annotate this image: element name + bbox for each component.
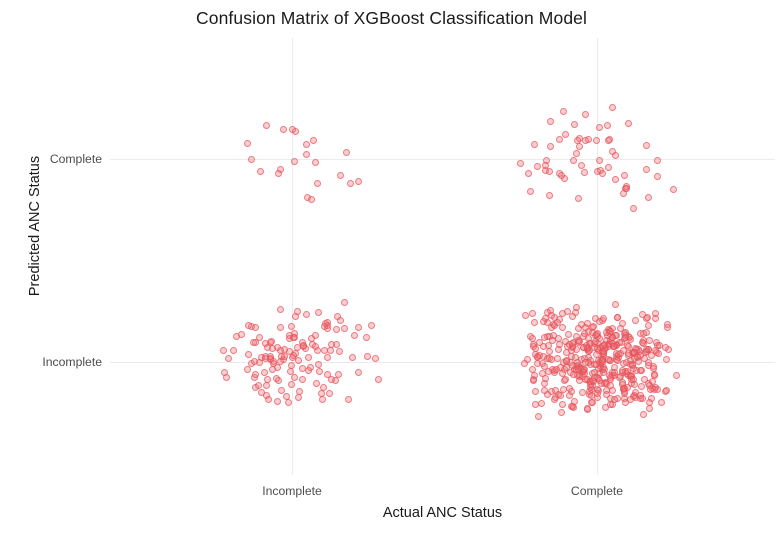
scatter-point: [658, 399, 665, 406]
scatter-point: [593, 351, 600, 358]
scatter-point: [308, 196, 315, 203]
scatter-point: [223, 374, 230, 381]
scatter-point: [296, 388, 303, 395]
scatter-point: [662, 344, 669, 351]
x-tick-label-complete: Complete: [571, 484, 623, 498]
scatter-point: [558, 172, 565, 179]
scatter-point: [646, 337, 653, 344]
scatter-point: [355, 324, 362, 331]
scatter-point: [548, 312, 555, 319]
scatter-point: [575, 337, 582, 344]
x-tick-label-incomplete: Incomplete: [262, 484, 322, 498]
scatter-point: [277, 347, 284, 354]
scatter-point: [351, 332, 358, 339]
scatter-point: [652, 347, 659, 354]
scatter-point: [313, 380, 320, 387]
scatter-point: [341, 299, 348, 306]
scatter-point: [299, 376, 306, 383]
scatter-point: [252, 371, 259, 378]
scatter-point: [622, 334, 629, 341]
scatter-point: [574, 372, 581, 379]
scatter-point: [625, 120, 632, 127]
scatter-point: [562, 376, 569, 383]
scatter-point: [619, 367, 626, 374]
scatter-point: [287, 368, 294, 375]
scatter-point: [321, 323, 328, 330]
scatter-point: [332, 377, 339, 384]
scatter-point: [336, 348, 343, 355]
scatter-point: [609, 104, 616, 111]
scatter-point: [571, 398, 578, 405]
scatter-point: [265, 396, 272, 403]
scatter-point: [596, 124, 603, 131]
scatter-point: [521, 360, 528, 367]
scatter-point: [252, 324, 259, 331]
scatter-point: [347, 180, 354, 187]
scatter-point: [643, 166, 650, 173]
scatter-point: [250, 339, 257, 346]
scatter-point: [263, 122, 270, 129]
scatter-point: [238, 331, 245, 338]
scatter-point: [569, 340, 576, 347]
scatter-point: [620, 360, 627, 367]
scatter-point: [602, 404, 609, 411]
scatter-point: [548, 356, 555, 363]
scatter-point: [308, 335, 315, 342]
scatter-point: [563, 364, 570, 371]
scatter-point: [612, 176, 619, 183]
scatter-point: [573, 304, 580, 311]
scatter-point: [582, 137, 589, 144]
scatter-point: [280, 126, 287, 133]
scatter-point: [310, 137, 317, 144]
scatter-point: [612, 301, 619, 308]
scatter-point: [303, 151, 310, 158]
scatter-point: [337, 172, 344, 179]
scatter-point: [673, 372, 680, 379]
scatter-point: [627, 396, 634, 403]
scatter-point: [277, 324, 284, 331]
scatter-point: [268, 338, 275, 345]
scatter-point: [261, 369, 268, 376]
scatter-point: [527, 188, 534, 195]
scatter-point: [654, 157, 661, 164]
scatter-point: [563, 349, 570, 356]
scatter-point: [603, 380, 610, 387]
scatter-point: [522, 312, 529, 319]
scatter-point: [303, 141, 310, 148]
y-tick-label-complete: Complete: [50, 152, 102, 166]
scatter-point: [547, 143, 554, 150]
scatter-point: [605, 164, 612, 171]
scatter-point: [670, 186, 677, 193]
scatter-point: [292, 128, 299, 135]
chart-container: Confusion Matrix of XGBoost Classificati…: [0, 0, 783, 540]
scatter-point: [288, 323, 295, 330]
scatter-point: [621, 172, 628, 179]
scatter-point: [277, 306, 284, 313]
scatter-point: [225, 355, 232, 362]
scatter-point: [538, 400, 545, 407]
scatter-point: [589, 399, 596, 406]
scatter-point: [294, 308, 301, 315]
scatter-point: [559, 310, 566, 317]
scatter-point: [612, 152, 619, 159]
scatter-point: [572, 354, 579, 361]
scatter-point: [597, 167, 604, 174]
scatter-point: [341, 325, 348, 332]
scatter-point: [368, 322, 375, 329]
scatter-point: [617, 325, 624, 332]
scatter-point: [327, 347, 334, 354]
scatter-point: [273, 375, 280, 382]
scatter-point: [546, 168, 553, 175]
scatter-point: [303, 311, 310, 318]
scatter-point: [245, 322, 252, 329]
scatter-point: [605, 356, 612, 363]
y-axis-title: Predicted ANC Status: [27, 111, 43, 341]
scatter-point: [355, 178, 362, 185]
scatter-point: [529, 335, 536, 342]
scatter-point: [517, 160, 524, 167]
scatter-point: [599, 357, 606, 364]
scatter-point: [627, 357, 634, 364]
scatter-point: [315, 361, 322, 368]
scatter-point: [535, 413, 542, 420]
scatter-point: [609, 387, 616, 394]
scatter-point: [295, 357, 302, 364]
scatter-point: [569, 313, 576, 320]
scatter-point: [244, 140, 251, 147]
scatter-point: [291, 158, 298, 165]
scatter-point: [274, 398, 281, 405]
scatter-point: [632, 317, 639, 324]
scatter-point: [562, 131, 569, 138]
x-axis-title: Actual ANC Status: [110, 505, 775, 521]
scatter-point: [314, 180, 321, 187]
scatter-point: [244, 366, 251, 373]
chart-title: Confusion Matrix of XGBoost Classificati…: [0, 8, 783, 29]
scatter-point: [639, 339, 646, 346]
scatter-point: [623, 185, 630, 192]
scatter-point: [307, 364, 314, 371]
scatter-point: [582, 111, 589, 118]
scatter-point: [372, 355, 379, 362]
scatter-point: [345, 396, 352, 403]
scatter-point: [315, 309, 322, 316]
scatter-point: [631, 381, 638, 388]
scatter-point: [592, 338, 599, 345]
scatter-point: [316, 368, 323, 375]
scatter-point: [263, 382, 270, 389]
scatter-point: [573, 150, 580, 157]
y-tick-label-incomplete: Incomplete: [42, 355, 102, 369]
scatter-point: [596, 318, 603, 325]
scatter-points-layer: [110, 38, 775, 475]
scatter-point: [277, 358, 284, 365]
scatter-point: [546, 348, 553, 355]
scatter-point: [245, 351, 252, 358]
scatter-point: [565, 331, 572, 338]
scatter-point: [639, 395, 646, 402]
scatter-point: [652, 315, 659, 322]
scatter-point: [270, 358, 277, 365]
scatter-point: [641, 355, 648, 362]
scatter-point: [220, 347, 227, 354]
scatter-point: [337, 317, 344, 324]
scatter-point: [541, 363, 548, 370]
scatter-point: [534, 163, 541, 170]
scatter-point: [532, 388, 539, 395]
scatter-point: [571, 121, 578, 128]
scatter-point: [568, 388, 575, 395]
scatter-point: [646, 405, 653, 412]
scatter-point: [611, 369, 618, 376]
scatter-point: [643, 346, 650, 353]
scatter-point: [547, 118, 554, 125]
scatter-point: [529, 310, 536, 317]
scatter-point: [605, 137, 612, 144]
scatter-point: [230, 347, 237, 354]
scatter-point: [363, 334, 370, 341]
scatter-point: [596, 157, 603, 164]
scatter-point: [312, 159, 319, 166]
scatter-point: [558, 409, 565, 416]
scatter-point: [257, 168, 264, 175]
scatter-point: [580, 366, 587, 373]
scatter-point: [556, 341, 563, 348]
scatter-point: [355, 369, 362, 376]
scatter-point: [349, 354, 356, 361]
scatter-point: [364, 353, 371, 360]
scatter-point: [604, 122, 611, 129]
scatter-point: [531, 319, 538, 326]
scatter-point: [531, 141, 538, 148]
scatter-point: [556, 136, 563, 143]
scatter-point: [248, 156, 255, 163]
scatter-point: [593, 331, 600, 338]
scatter-point: [570, 157, 577, 164]
scatter-point: [645, 194, 652, 201]
scatter-point: [326, 390, 333, 397]
scatter-point: [663, 387, 670, 394]
scatter-point: [324, 354, 331, 361]
scatter-point: [305, 354, 312, 361]
scatter-point: [318, 390, 325, 397]
scatter-point: [625, 350, 632, 357]
scatter-point: [630, 205, 637, 212]
scatter-point: [643, 142, 650, 149]
scatter-point: [575, 195, 582, 202]
scatter-point: [594, 386, 601, 393]
scatter-point: [637, 367, 644, 374]
scatter-point: [546, 192, 553, 199]
scatter-point: [540, 343, 547, 350]
scatter-point: [525, 170, 532, 177]
scatter-point: [552, 394, 559, 401]
scatter-point: [333, 326, 340, 333]
scatter-point: [559, 324, 566, 331]
scatter-point: [645, 322, 652, 329]
scatter-point: [581, 169, 588, 176]
scatter-point: [262, 355, 269, 362]
scatter-point: [542, 375, 549, 382]
scatter-point: [600, 369, 607, 376]
scatter-point: [644, 314, 651, 321]
scatter-point: [654, 173, 661, 180]
scatter-point: [663, 356, 670, 363]
scatter-point: [541, 387, 548, 394]
scatter-point: [552, 387, 559, 394]
scatter-point: [560, 108, 567, 115]
scatter-point: [335, 371, 342, 378]
scatter-point: [275, 170, 282, 177]
scatter-point: [343, 149, 350, 156]
scatter-point: [640, 411, 647, 418]
scatter-point: [559, 401, 566, 408]
scatter-point: [375, 376, 382, 383]
plot-panel: [110, 38, 775, 475]
scatter-point: [593, 137, 600, 144]
scatter-point: [288, 381, 295, 388]
scatter-point: [632, 389, 639, 396]
scatter-point: [611, 396, 618, 403]
scatter-point: [664, 324, 671, 331]
scatter-point: [294, 344, 301, 351]
scatter-point: [638, 383, 645, 390]
scatter-point: [646, 382, 653, 389]
